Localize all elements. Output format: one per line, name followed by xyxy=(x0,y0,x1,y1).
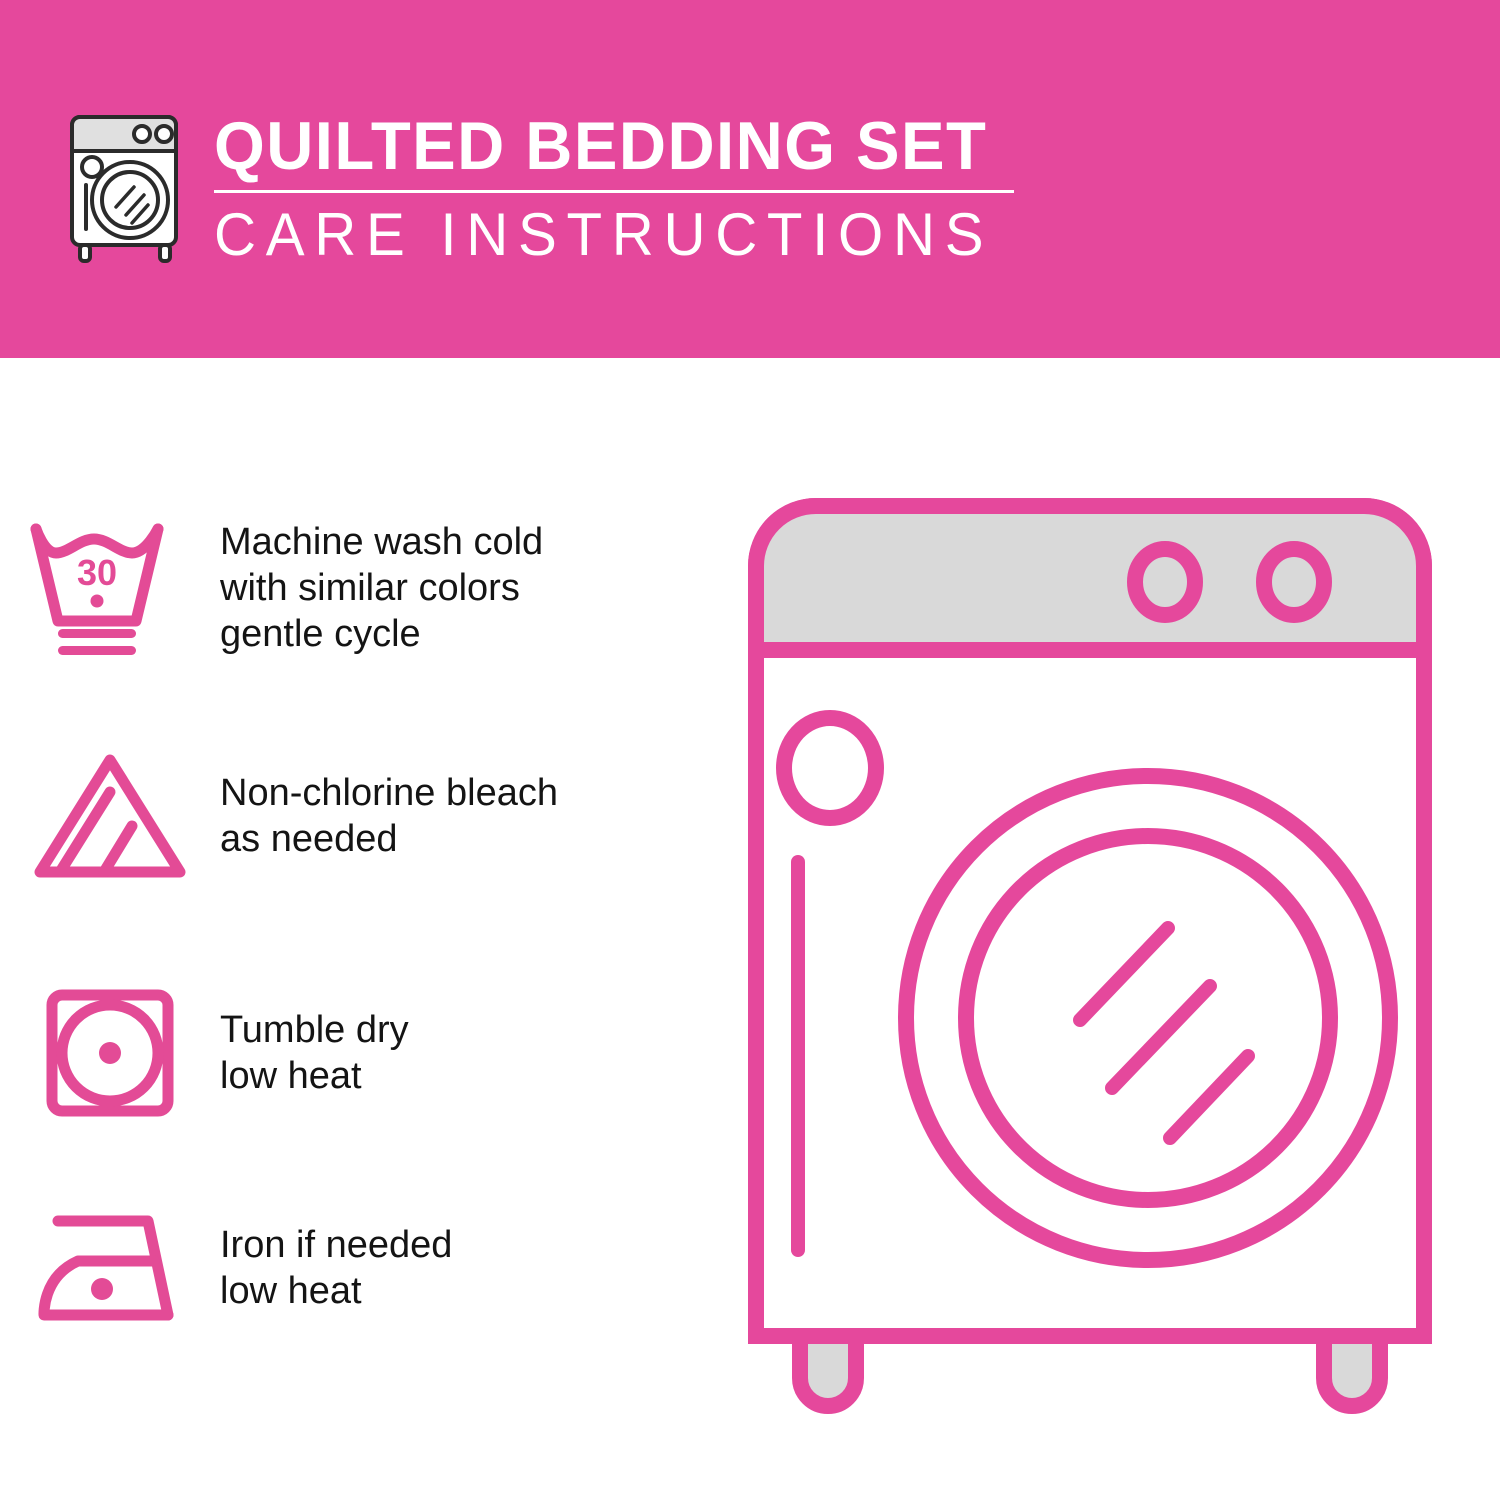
knob-right xyxy=(1264,549,1324,615)
care-instructions-infographic: QUILTED BEDDING SET CARE INSTRUCTIONS 30 xyxy=(0,0,1500,1500)
instruction-line: low heat xyxy=(220,1053,409,1099)
bleach-triangle-nonchlorine-icon xyxy=(0,746,220,886)
instruction-text-tumble-dry: Tumble dry low heat xyxy=(220,1007,409,1099)
instruction-text-wash: Machine wash cold with similar colors ge… xyxy=(220,519,543,657)
door-inner-ring xyxy=(966,836,1330,1200)
instruction-item-wash: 30 Machine wash cold with similar colors… xyxy=(0,498,730,678)
tumble-dry-low-icon xyxy=(0,983,220,1123)
wash-tub-30-gentle-icon: 30 xyxy=(0,513,220,663)
header-divider xyxy=(214,190,1014,193)
washing-machine-logo-icon xyxy=(64,105,192,265)
wash-temperature-label: 30 xyxy=(77,552,117,593)
instruction-line: with similar colors xyxy=(220,565,543,611)
instruction-item-iron: Iron if needed low heat xyxy=(0,1188,730,1348)
instruction-line: gentle cycle xyxy=(220,611,543,657)
knob-left xyxy=(1135,549,1195,615)
iron-low-heat-icon xyxy=(0,1203,220,1333)
page-title: QUILTED BEDDING SET xyxy=(214,108,987,184)
instruction-line: Machine wash cold xyxy=(220,519,543,565)
leg-left xyxy=(800,1336,856,1406)
instruction-line: as needed xyxy=(220,816,558,862)
instruction-line: low heat xyxy=(220,1268,452,1314)
header-banner: QUILTED BEDDING SET CARE INSTRUCTIONS xyxy=(0,0,1500,358)
instruction-line: Iron if needed xyxy=(220,1222,452,1268)
page-subtitle: CARE INSTRUCTIONS xyxy=(214,201,995,269)
instruction-text-bleach: Non-chlorine bleach as needed xyxy=(220,770,558,862)
care-instruction-list: 30 Machine wash cold with similar colors… xyxy=(0,358,730,1500)
instruction-item-tumble-dry: Tumble dry low heat xyxy=(0,968,730,1138)
instruction-text-iron: Iron if needed low heat xyxy=(220,1222,452,1314)
instruction-line: Tumble dry xyxy=(220,1007,409,1053)
dispenser-button xyxy=(784,718,876,818)
front-load-washing-machine-illustration xyxy=(740,490,1440,1430)
header-text-block: QUILTED BEDDING SET CARE INSTRUCTIONS xyxy=(214,108,1019,269)
instruction-item-bleach: Non-chlorine bleach as needed xyxy=(0,728,730,903)
instruction-line: Non-chlorine bleach xyxy=(220,770,558,816)
leg-right xyxy=(1324,1336,1380,1406)
